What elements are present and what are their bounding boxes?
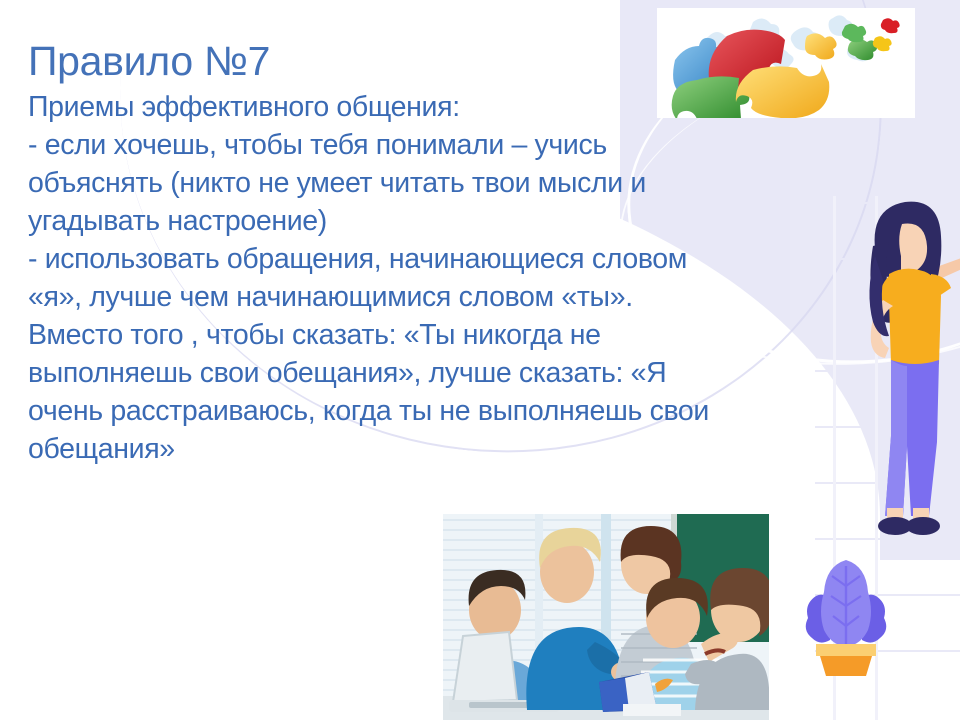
body-line-6: «я», лучше чем начинающимися словом «ты»… [28, 278, 883, 316]
potted-plant-illustration [800, 552, 892, 677]
puzzle-image [657, 8, 915, 118]
body-line-8: выполняешь свои обещания», лучше сказать… [28, 354, 883, 392]
students-group-discussion-photo [437, 508, 775, 720]
body-line-9: очень расстраиваюсь, когда ты не выполня… [28, 392, 883, 430]
body-line-5: - использовать обращения, начинающиеся с… [28, 240, 883, 278]
body-line-4: угадывать настроение) [28, 202, 883, 240]
body-line-3: объяснять (никто не умеет читать твои мы… [28, 164, 883, 202]
body-line-2: - если хочешь, чтобы тебя понимали – учи… [28, 126, 883, 164]
body-line-7: Вместо того , чтобы сказать: «Ты никогда… [28, 316, 883, 354]
presentation-slide: Правило №7 Приемы эффективного общения: … [0, 0, 960, 720]
body-line-10: обещания» [28, 430, 883, 468]
